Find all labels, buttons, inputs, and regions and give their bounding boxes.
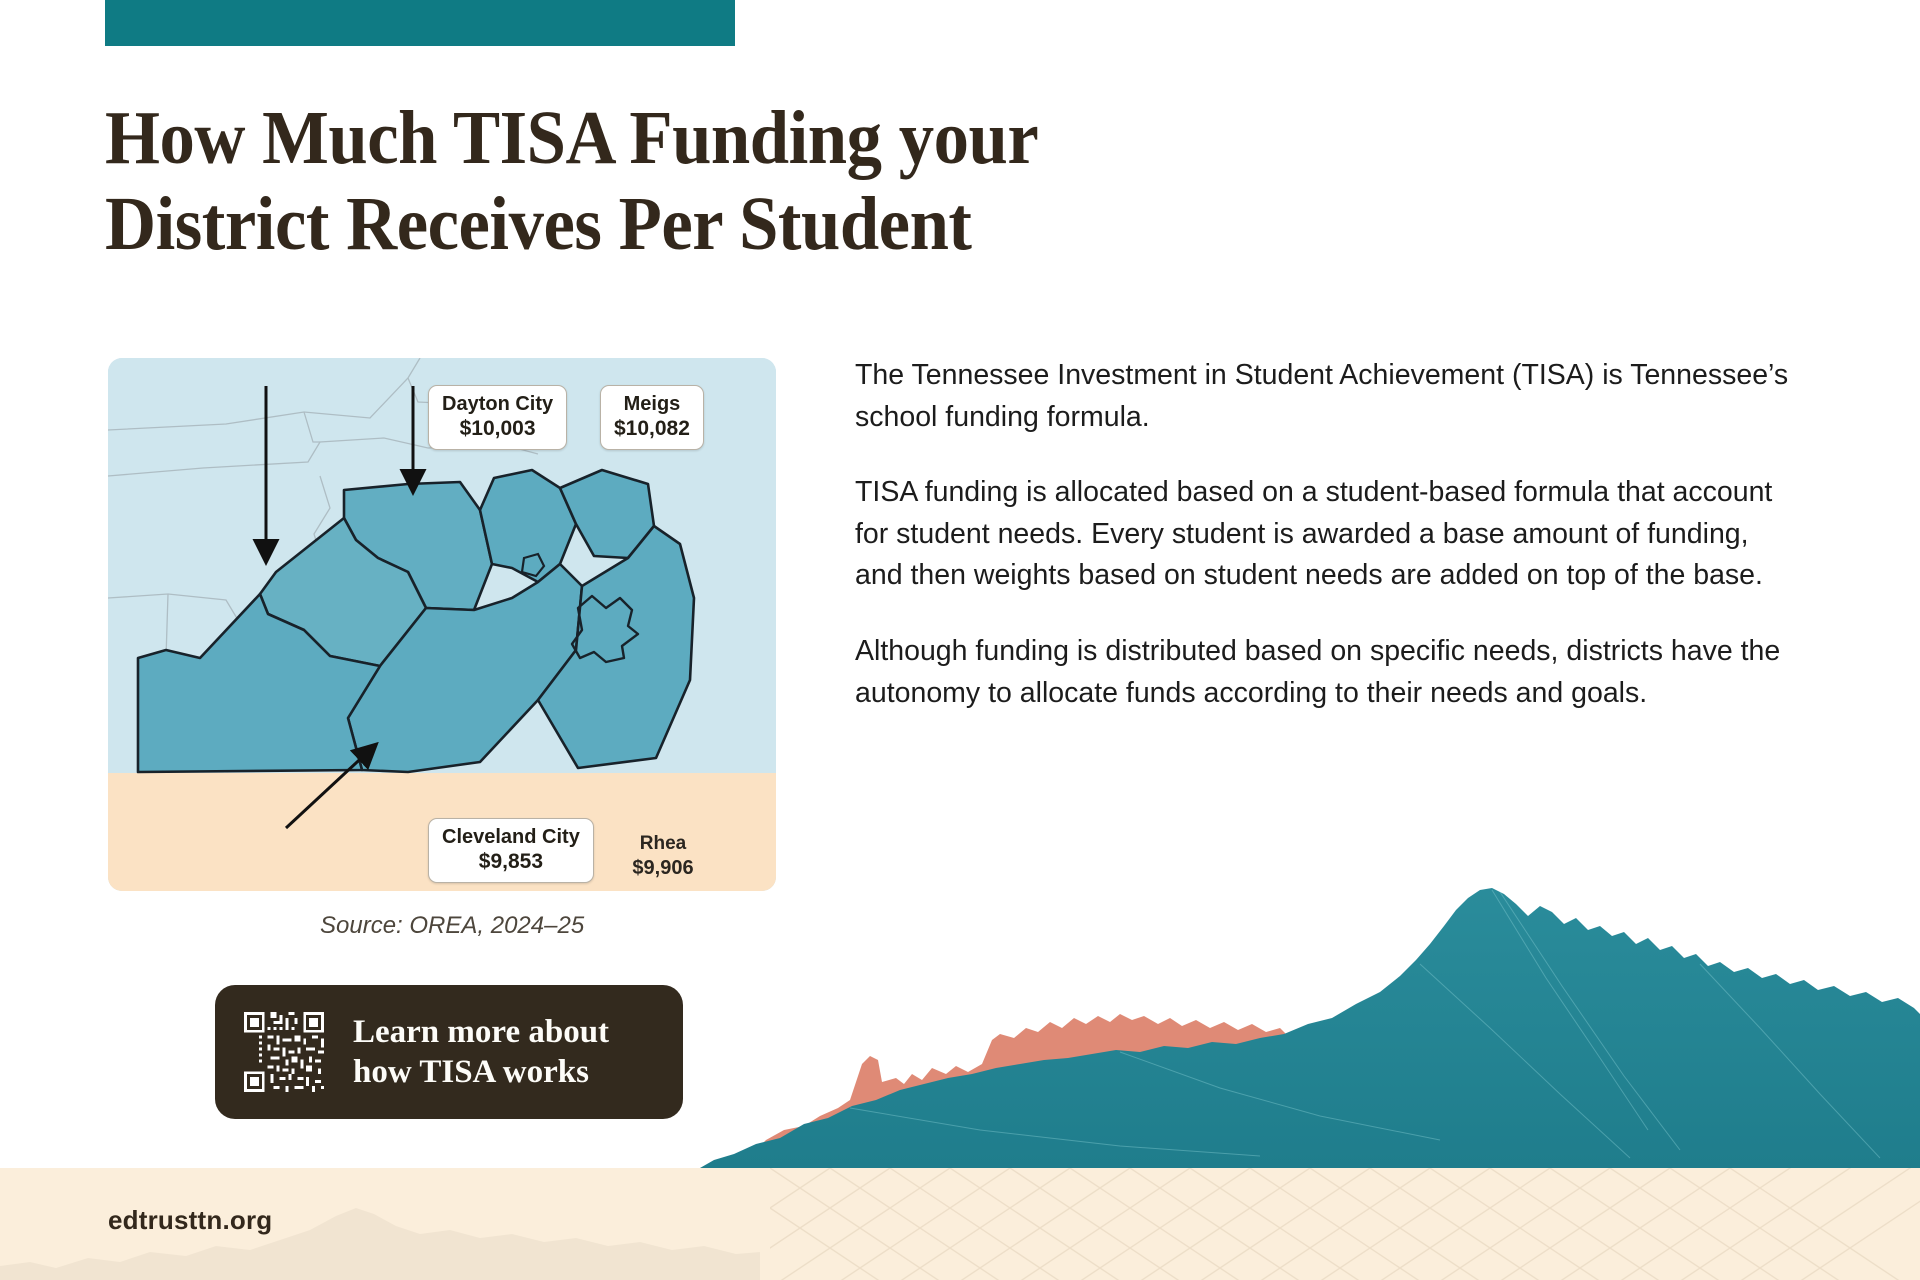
cta-line-1: Learn more about <box>353 1012 609 1052</box>
headline-line-1: How Much TISA Funding your <box>105 96 1314 182</box>
headline-line-2: District Receives Per Student <box>105 182 1314 268</box>
callout-name: Meigs <box>614 393 690 417</box>
mountain-illustration <box>700 868 1920 1168</box>
paragraph-2: TISA funding is allocated based on a stu… <box>855 472 1790 597</box>
cta-line-2: how TISA works <box>353 1052 609 1092</box>
paragraph-1: The Tennessee Investment in Student Achi… <box>855 355 1790 438</box>
footer-band: edtrusttn.org <box>0 1168 1920 1280</box>
callout-amount: $10,082 <box>614 417 690 442</box>
callout-dayton-city[interactable]: Dayton City $10,003 <box>428 385 567 450</box>
paragraph-3: Although funding is distributed based on… <box>855 631 1790 714</box>
callout-meigs[interactable]: Meigs $10,082 <box>600 385 704 450</box>
qr-code-icon[interactable] <box>241 1009 327 1095</box>
top-accent-bar <box>105 0 735 46</box>
callout-amount: $10,003 <box>442 417 553 442</box>
page-title: How Much TISA Funding your District Rece… <box>105 96 1405 268</box>
callout-name: Dayton City <box>442 393 553 417</box>
body-copy: The Tennessee Investment in Student Achi… <box>855 355 1790 714</box>
cta-label: Learn more about how TISA works <box>353 1012 609 1093</box>
callout-amount: $9,853 <box>442 850 580 875</box>
infographic-page: How Much TISA Funding your District Rece… <box>0 0 1920 1280</box>
callout-name: Cleveland City <box>442 826 580 850</box>
footer-website-url: edtrusttn.org <box>108 1205 272 1236</box>
footer-grid-pattern <box>770 1168 1920 1280</box>
callout-cleveland-city[interactable]: Cleveland City $9,853 <box>428 818 594 883</box>
map-source-note: Source: OREA, 2024–25 <box>320 912 584 940</box>
learn-more-cta[interactable]: Learn more about how TISA works <box>215 985 683 1119</box>
